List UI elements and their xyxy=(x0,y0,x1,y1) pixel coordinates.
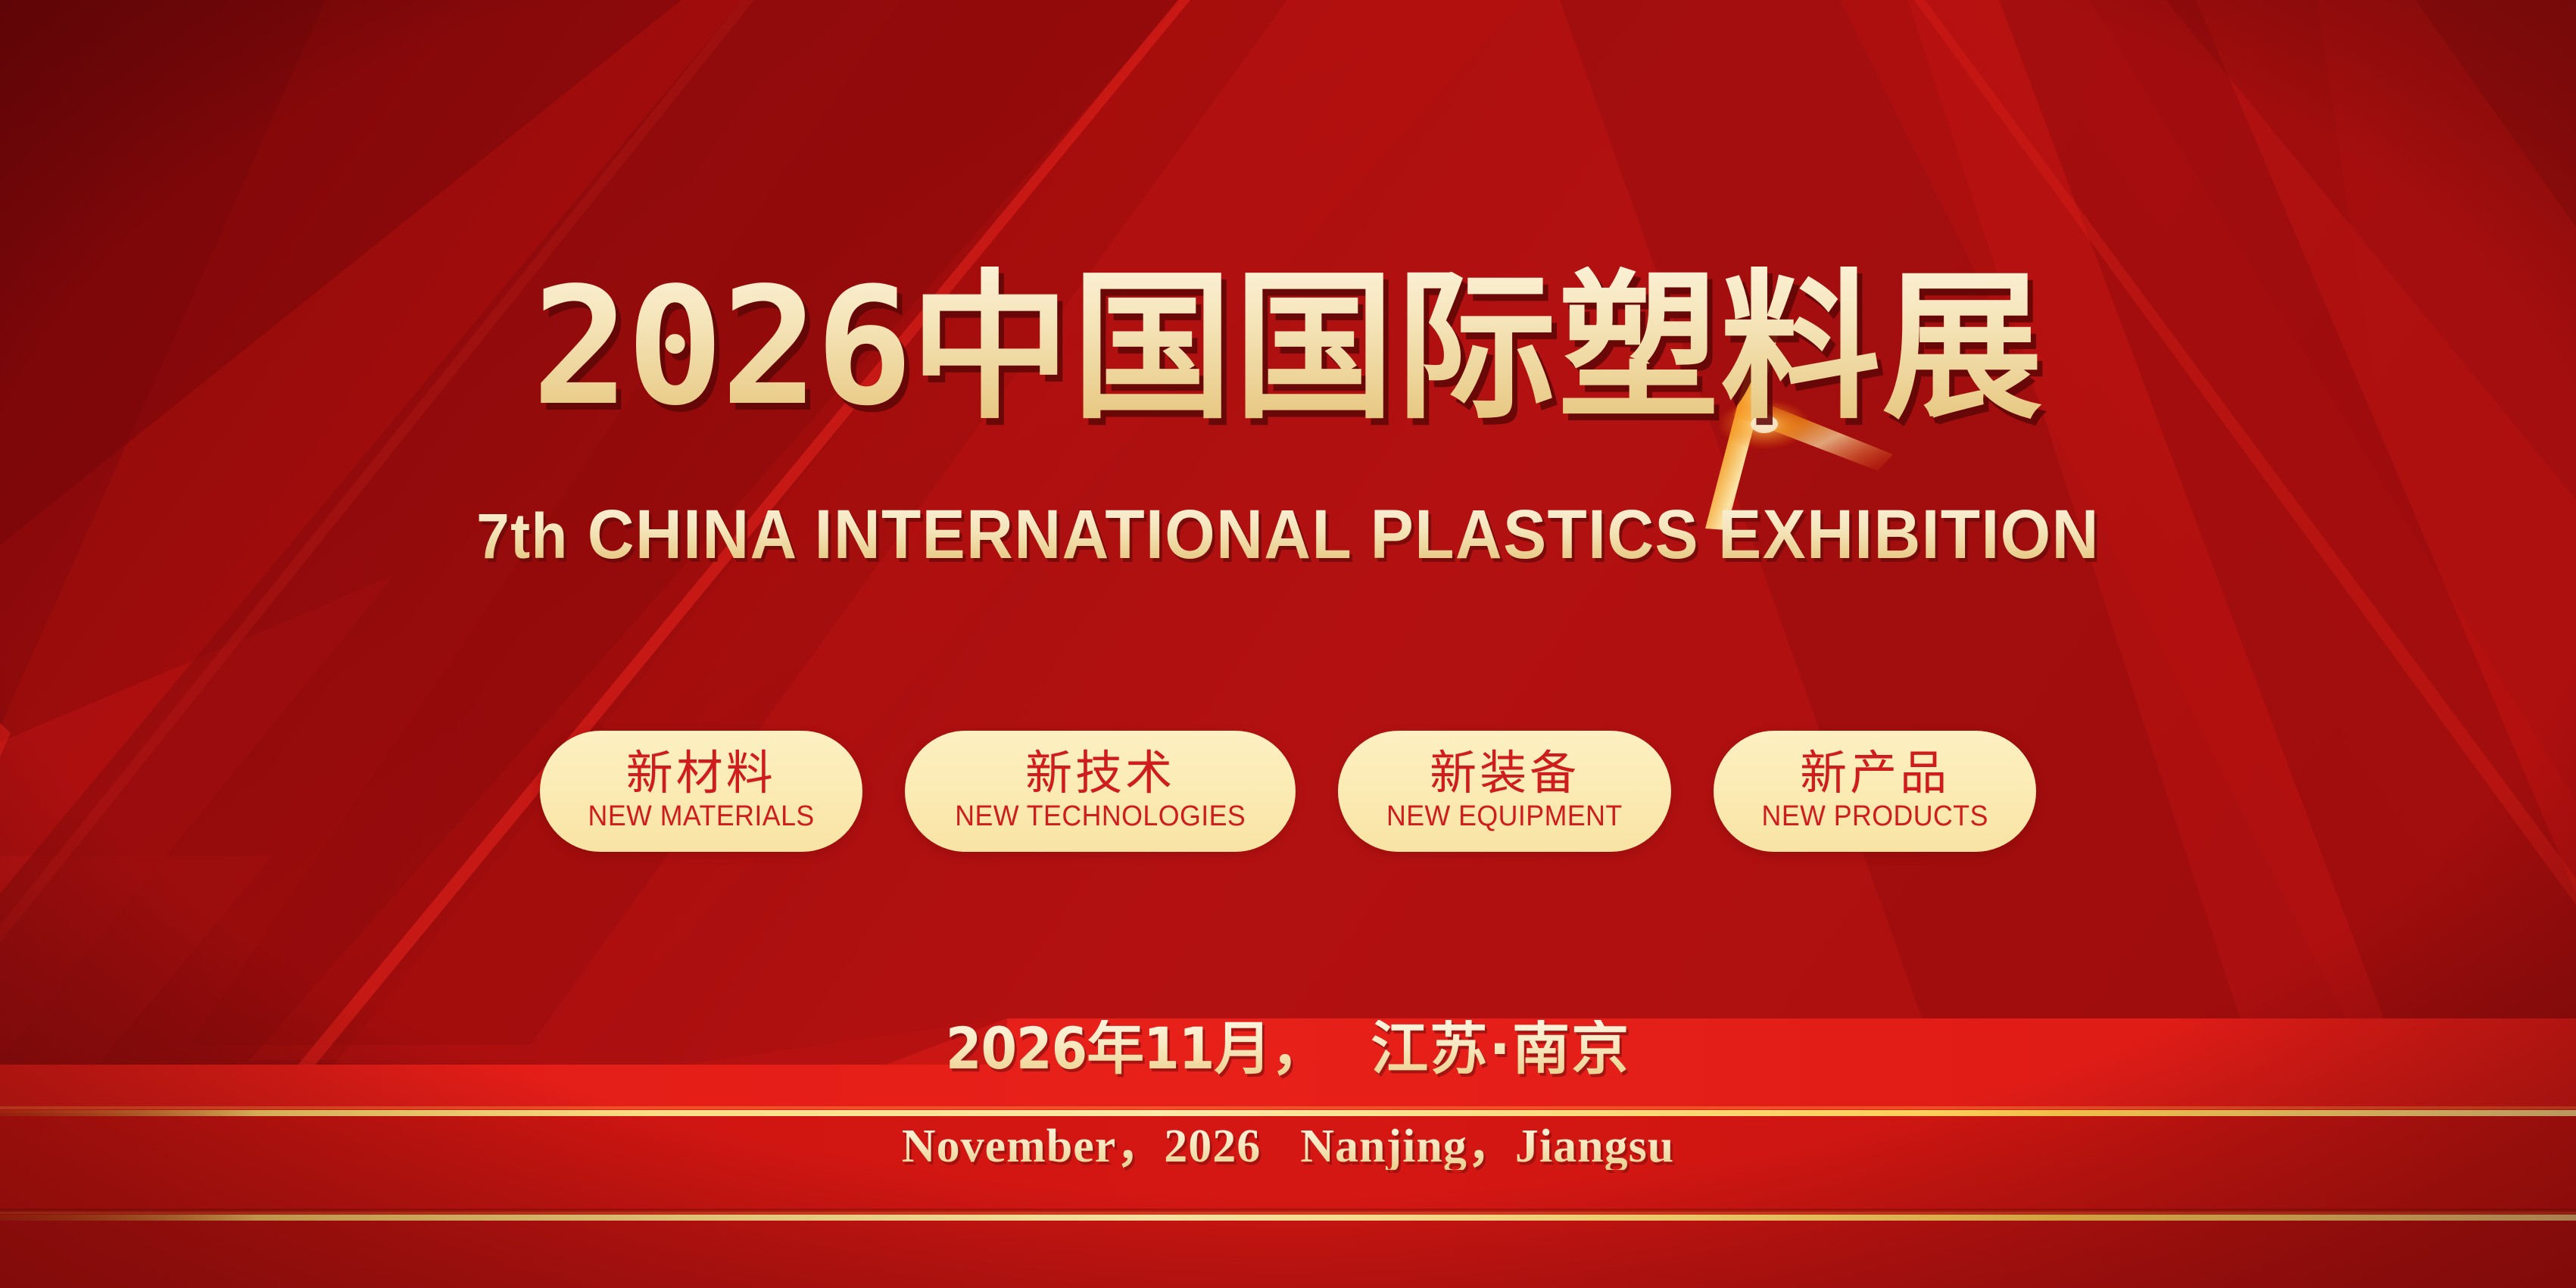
feature-pill-row: 新材料 NEW MATERIALS 新技术 NEW TECHNOLOGIES 新… xyxy=(0,731,2576,852)
subtitle-rest: CHINA INTERNATIONAL PLASTICS EXHIBITION xyxy=(569,496,2100,573)
event-place-cn: 江苏·南京 xyxy=(1371,1015,1630,1082)
page-title: 2026中国国际塑料展 xyxy=(0,267,2576,429)
pill-label-cn: 新材料 xyxy=(626,749,776,797)
title-chinese-words: 中国国际塑料展 xyxy=(910,254,2044,441)
pill-label-cn: 新产品 xyxy=(1800,749,1950,797)
pill-label-en: NEW PRODUCTS xyxy=(1762,800,1988,834)
pill-new-products[interactable]: 新产品 NEW PRODUCTS xyxy=(1714,731,2036,852)
title-year: 2026 xyxy=(532,253,909,441)
subtitle-ordinal: 7th xyxy=(476,501,568,572)
pill-label-en: NEW MATERIALS xyxy=(588,800,814,834)
event-date-en: November，2026 xyxy=(902,1121,1261,1172)
pill-new-materials[interactable]: 新材料 NEW MATERIALS xyxy=(540,731,862,852)
event-datetime-location-cn: 2026年11月， 江苏·南京 xyxy=(0,1020,2576,1077)
poster-content: 2026中国国际塑料展 7th CHINA INTERNATIONAL PLAS… xyxy=(0,0,2576,1288)
poster-canvas: 2026中国国际塑料展 7th CHINA INTERNATIONAL PLAS… xyxy=(0,0,2576,1288)
pill-label-en: NEW EQUIPMENT xyxy=(1386,800,1623,834)
pill-label-en: NEW TECHNOLOGIES xyxy=(955,800,1246,834)
event-datetime-location-en: November，2026Nanjing，Jiangsu xyxy=(0,1123,2576,1170)
pill-label-cn: 新技术 xyxy=(1025,749,1175,797)
pill-label-cn: 新装备 xyxy=(1430,749,1580,797)
page-subtitle: 7th CHINA INTERNATIONAL PLASTICS EXHIBIT… xyxy=(90,500,2486,569)
event-date-cn: 2026年11月， xyxy=(946,1015,1327,1082)
pill-new-equipment[interactable]: 新装备 NEW EQUIPMENT xyxy=(1338,731,1671,852)
event-place-en: Nanjing，Jiangsu xyxy=(1300,1121,1674,1172)
pill-new-technologies[interactable]: 新技术 NEW TECHNOLOGIES xyxy=(905,731,1296,852)
